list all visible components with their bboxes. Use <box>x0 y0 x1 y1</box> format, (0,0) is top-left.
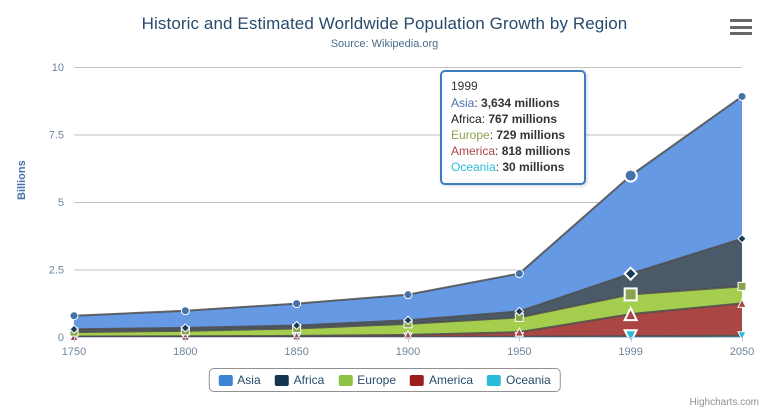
y-axis-label: 2.5 <box>49 265 64 277</box>
tooltip-series-name: Oceania <box>451 160 496 174</box>
x-axis-label: 1950 <box>507 346 531 358</box>
x-axis-label: 1900 <box>396 346 420 358</box>
tooltip-row-america: America: 818 millions <box>451 143 575 159</box>
tooltip-series-name: Asia <box>451 96 474 110</box>
legend-swatch-icon <box>487 375 501 386</box>
y-axis-label: 5 <box>58 197 64 209</box>
legend-item-label: Europe <box>357 373 396 387</box>
tooltip-series-value: 30 millions <box>502 160 564 174</box>
tooltip-row-asia: Asia: 3,634 millions <box>451 95 575 111</box>
data-point-asia-2050[interactable] <box>738 92 746 100</box>
legend-item-asia[interactable]: Asia <box>218 373 260 387</box>
legend-swatch-icon <box>410 375 424 386</box>
legend-swatch-icon <box>275 375 289 386</box>
x-axis-label: 2050 <box>730 346 754 358</box>
x-axis-label: 1850 <box>284 346 308 358</box>
tooltip-row-europe: Europe: 729 millions <box>451 127 575 143</box>
tooltip-series-value: 767 millions <box>488 112 557 126</box>
legend-item-label: Asia <box>237 373 260 387</box>
data-point-asia-1800[interactable] <box>181 307 189 315</box>
legend-swatch-icon <box>218 375 232 386</box>
legend-item-label: Africa <box>294 373 325 387</box>
data-point-asia-1750[interactable] <box>70 312 78 320</box>
legend-item-europe[interactable]: Europe <box>338 373 396 387</box>
tooltip-series-name: Europe <box>451 128 490 142</box>
tooltip-series-name: Africa <box>451 112 482 126</box>
legend-item-oceania[interactable]: Oceania <box>487 373 551 387</box>
x-axis-label: 1750 <box>62 346 86 358</box>
chart-plot-area[interactable]: 175018001850190019501999205002.557.510 <box>0 0 769 416</box>
x-axis-label: 1800 <box>173 346 197 358</box>
tooltip-row-oceania: Oceania: 30 millions <box>451 159 575 175</box>
tooltip-header: 1999 <box>451 79 575 93</box>
tooltip-row-africa: Africa: 767 millions <box>451 111 575 127</box>
data-point-europe-1999[interactable] <box>625 288 637 300</box>
data-point-asia-1850[interactable] <box>293 300 301 308</box>
chart-legend: AsiaAfricaEuropeAmericaOceania <box>208 368 560 392</box>
tooltip-series-value: 3,634 millions <box>481 96 560 110</box>
x-axis-label: 1999 <box>618 346 642 358</box>
data-point-asia-1900[interactable] <box>404 291 412 299</box>
tooltip-series-value: 729 millions <box>496 128 565 142</box>
y-axis-label: 7.5 <box>49 130 64 142</box>
legend-item-label: Oceania <box>506 373 551 387</box>
legend-swatch-icon <box>338 375 352 386</box>
chart-tooltip: 1999 Asia: 3,634 millionsAfrica: 767 mil… <box>440 70 586 185</box>
data-point-europe-2050[interactable] <box>738 282 746 290</box>
data-point-asia-1999[interactable] <box>625 170 637 182</box>
y-axis-label: 0 <box>58 332 64 344</box>
data-point-asia-1950[interactable] <box>515 270 523 278</box>
tooltip-series-name: America <box>451 144 495 158</box>
highcharts-credits[interactable]: Highcharts.com <box>690 397 759 408</box>
tooltip-series-value: 818 millions <box>502 144 571 158</box>
highcharts-container: Historic and Estimated Worldwide Populat… <box>0 0 769 416</box>
y-axis-label: 10 <box>52 62 64 74</box>
legend-item-america[interactable]: America <box>410 373 473 387</box>
legend-item-label: America <box>429 373 473 387</box>
legend-item-africa[interactable]: Africa <box>275 373 325 387</box>
